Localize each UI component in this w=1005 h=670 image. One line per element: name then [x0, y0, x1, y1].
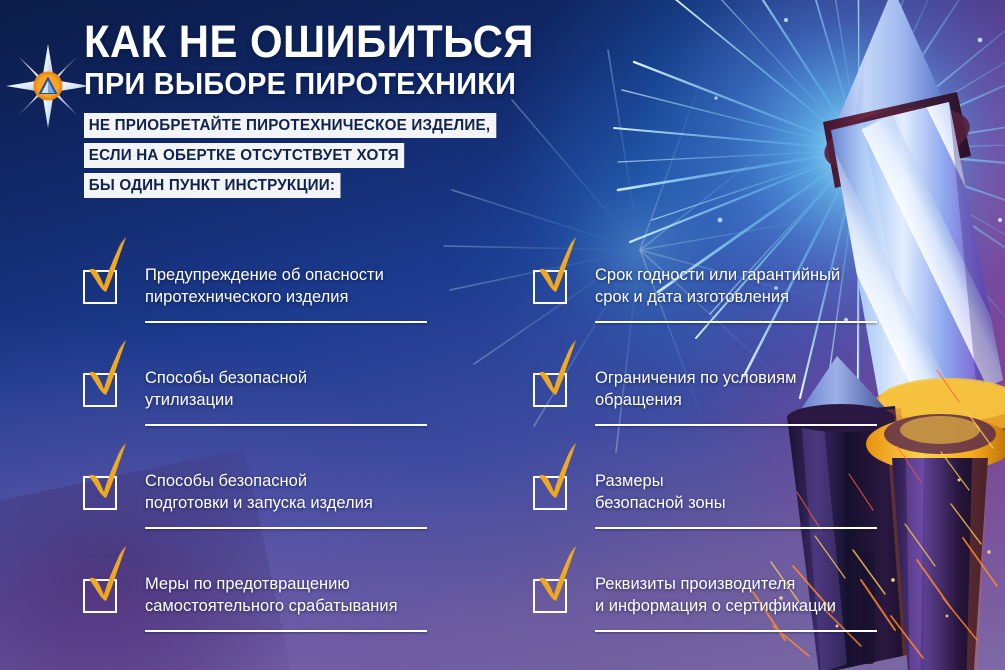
checklist-item-text: Меры по предотвращению самостоятельного …	[145, 573, 429, 617]
checklist-item-line-1: Срок годности или гарантийный	[595, 264, 879, 286]
subhead-line-3: БЫ ОДИН ПУНКТ ИНСТРУКЦИИ:	[84, 173, 341, 198]
checklist-item-line-1: Размеры	[595, 470, 879, 492]
checklist-item-underline	[145, 424, 427, 426]
checkbox-box[interactable]	[533, 476, 567, 510]
checklist-item-text: Реквизиты производителя и информация о с…	[595, 573, 879, 617]
checklist-item-line-2: самостоятельного срабатывания	[145, 595, 429, 617]
checklist-item-line-2: и информация о сертификации	[595, 595, 879, 617]
checklist-item-line-1: Ограничения по условиям	[595, 367, 879, 389]
checklist-item-text: Способы безопасной подготовки и запуска …	[145, 470, 429, 514]
subhead-line-1: НЕ ПРИОБРЕТАЙТЕ ПИРОТЕХНИЧЕСКОЕ ИЗДЕЛИЕ,	[84, 113, 496, 138]
poster-canvas: КАК НЕ ОШИБИТЬСЯ ПРИ ВЫБОРЕ ПИРОТЕХНИКИ …	[0, 0, 1005, 670]
checklist-item[interactable]: Способы безопасной подготовки и запуска …	[83, 464, 429, 567]
checklist-item[interactable]: Срок годности или гарантийный срок и дат…	[533, 258, 879, 361]
checklist-item-line-2: безопасной зоны	[595, 492, 879, 514]
checklist-column-left: Предупреждение об опасности пиротехничес…	[83, 258, 429, 670]
headline: КАК НЕ ОШИБИТЬСЯ ПРИ ВЫБОРЕ ПИРОТЕХНИКИ	[84, 18, 568, 101]
checklist-item-line-1: Меры по предотвращению	[145, 573, 429, 595]
checkbox-box[interactable]	[533, 373, 567, 407]
checkbox-box[interactable]	[533, 270, 567, 304]
checklist-item-text: Ограничения по условиям обращения	[595, 367, 879, 411]
checklist-item[interactable]: Ограничения по условиям обращения	[533, 361, 879, 464]
checklist-item-line-2: подготовки и запуска изделия	[145, 492, 429, 514]
checklist-item-line-2: срок и дата изготовления	[595, 286, 879, 308]
headline-line-2: ПРИ ВЫБОРЕ ПИРОТЕХНИКИ	[84, 66, 534, 101]
checkbox-box[interactable]	[83, 476, 117, 510]
checklist-item[interactable]: Предупреждение об опасности пиротехничес…	[83, 258, 429, 361]
checklist-item-underline	[595, 630, 877, 632]
headline-line-1: КАК НЕ ОШИБИТЬСЯ	[84, 18, 534, 65]
checklist-column-right: Срок годности или гарантийный срок и дат…	[533, 258, 879, 670]
checkbox-box[interactable]	[533, 579, 567, 613]
checklist-item-line-1: Предупреждение об опасности	[145, 264, 429, 286]
checklist-item-line-2: утилизации	[145, 389, 429, 411]
checklist-item-underline	[145, 321, 427, 323]
checklist-item-line-1: Способы безопасной	[145, 470, 429, 492]
checklist-item-underline	[145, 527, 427, 529]
checkbox-box[interactable]	[83, 373, 117, 407]
emercom-star-emblem-icon	[6, 44, 90, 128]
subhead-block: НЕ ПРИОБРЕТАЙТЕ ПИРОТЕХНИЧЕСКОЕ ИЗДЕЛИЕ,…	[84, 113, 518, 203]
checklist-item[interactable]: Способы безопасной утилизации	[83, 361, 429, 464]
subhead-line-2: ЕСЛИ НА ОБЕРТКЕ ОТСУТСТВУЕТ ХОТЯ	[84, 143, 405, 168]
checklist-item-underline	[595, 321, 877, 323]
checklist-item-line-1: Способы безопасной	[145, 367, 429, 389]
checklist-item[interactable]: Размеры безопасной зоны	[533, 464, 879, 567]
checklist-item-line-1: Реквизиты производителя	[595, 573, 879, 595]
checkbox-box[interactable]	[83, 270, 117, 304]
checklist-item-text: Предупреждение об опасности пиротехничес…	[145, 264, 429, 308]
checklist-item[interactable]: Реквизиты производителя и информация о с…	[533, 567, 879, 670]
checklist-item-underline	[595, 424, 877, 426]
checklist-item[interactable]: Меры по предотвращению самостоятельного …	[83, 567, 429, 670]
checklist-item-text: Размеры безопасной зоны	[595, 470, 879, 514]
checklist-item-underline	[145, 630, 427, 632]
checkbox-box[interactable]	[83, 579, 117, 613]
checklist-item-line-2: обращения	[595, 389, 879, 411]
checklist-item-line-2: пиротехнического изделия	[145, 286, 429, 308]
checklist-item-text: Способы безопасной утилизации	[145, 367, 429, 411]
checklist-item-underline	[595, 527, 877, 529]
checklist-item-text: Срок годности или гарантийный срок и дат…	[595, 264, 879, 308]
